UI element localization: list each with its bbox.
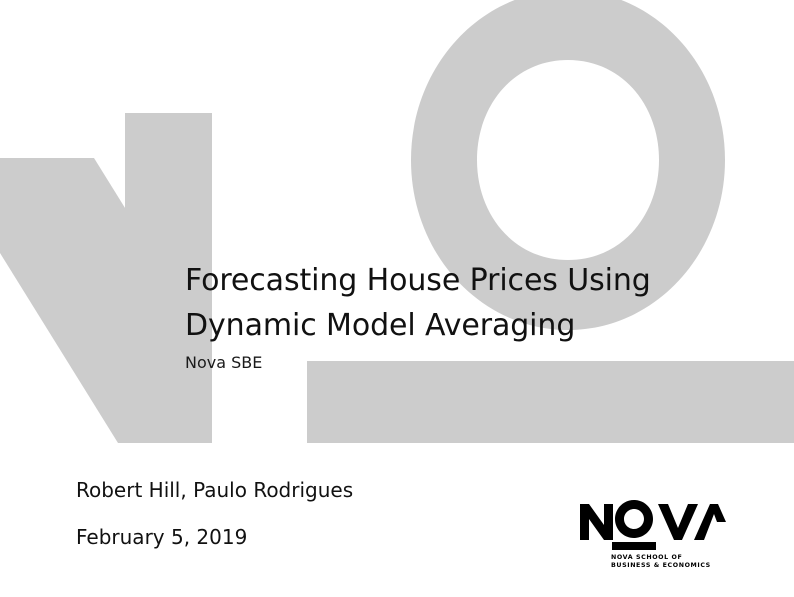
title-slide: Forecasting House Prices Using Dynamic M… bbox=[0, 0, 794, 597]
logo-tagline-line-1: NOVA SCHOOL OF bbox=[611, 554, 682, 561]
title-block: Forecasting House Prices Using Dynamic M… bbox=[185, 258, 705, 375]
logo-letter-a bbox=[694, 504, 726, 540]
author-names: Robert Hill, Paulo Rodrigues bbox=[76, 478, 353, 502]
presentation-date: February 5, 2019 bbox=[76, 525, 353, 549]
page-subtitle: Nova SBE bbox=[185, 351, 705, 375]
logo-letter-o bbox=[615, 500, 653, 538]
logo-underline-bar bbox=[612, 542, 656, 550]
logo-tagline-line-2: BUSINESS & ECONOMICS bbox=[611, 562, 711, 568]
page-title-line-1: Forecasting House Prices Using bbox=[185, 258, 705, 303]
nova-sbe-logo: NOVA SCHOOL OF BUSINESS & ECONOMICS bbox=[578, 500, 728, 568]
author-date-block: Robert Hill, Paulo Rodrigues February 5,… bbox=[76, 478, 353, 549]
logo-letter-v bbox=[658, 504, 698, 540]
page-title-line-2: Dynamic Model Averaging bbox=[185, 303, 705, 348]
logo-letter-n bbox=[580, 504, 613, 540]
watermark-letter-n-diagonal bbox=[0, 158, 212, 443]
